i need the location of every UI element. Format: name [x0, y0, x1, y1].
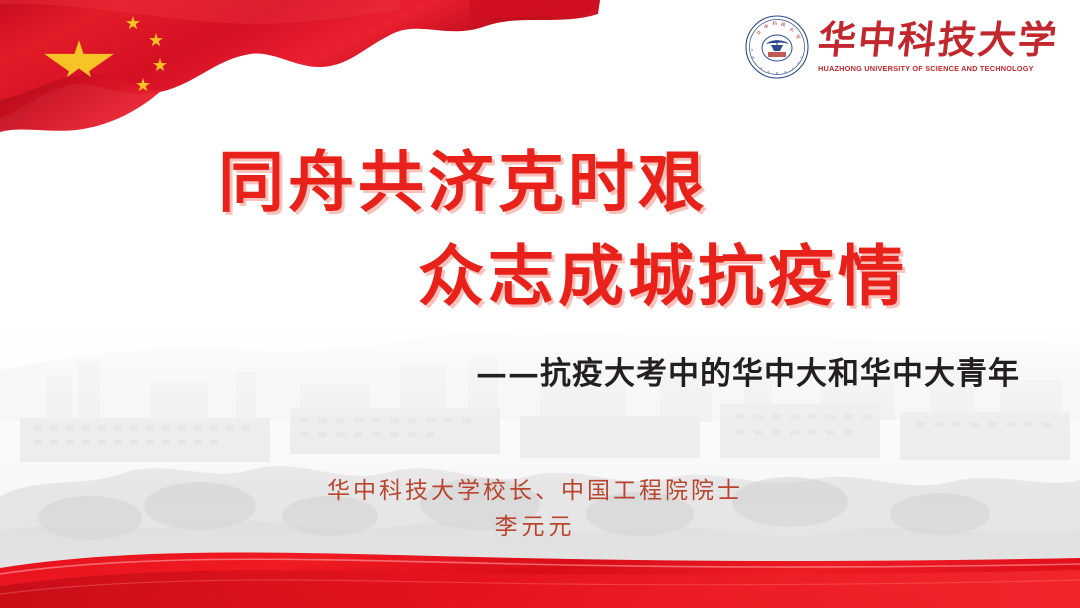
title-line-2: 众志成城抗疫情 [418, 244, 1080, 310]
presentation-slide: 华 中 科 技 大 学 U N I V E R S I T Y · [0, 0, 1080, 608]
svg-text:E: E [767, 70, 770, 74]
svg-text:科: 科 [772, 20, 778, 28]
svg-text:Y: Y [799, 56, 803, 60]
hust-seal-icon: 华 中 科 技 大 学 U N I V E R S I T Y · [744, 14, 810, 80]
svg-text:大: 大 [788, 25, 796, 33]
slide-title: 同舟共济克时艰 众志成城抗疫情 [0, 150, 1080, 310]
svg-text:S: S [784, 70, 787, 74]
svg-text:技: 技 [780, 21, 786, 29]
chinese-national-flag [0, 0, 600, 150]
university-logo: 华 中 科 技 大 学 U N I V E R S I T Y · [744, 14, 1058, 80]
svg-text:I: I [754, 62, 758, 65]
svg-text:N: N [751, 56, 756, 60]
svg-text:华: 华 [755, 28, 763, 37]
red-ribbon-decoration [0, 528, 1080, 608]
university-name-cn: 华中科技大学 [816, 22, 1060, 60]
presenter-role: 华中科技大学校长、中国工程院院士 [120, 474, 950, 509]
svg-text:·: · [800, 49, 804, 51]
svg-text:U: U [750, 48, 754, 51]
slide-subtitle: ——抗疫大考中的华中大和华中大青年 [0, 348, 1020, 393]
title-line-1: 同舟共济克时艰 [218, 150, 1080, 216]
university-name-en: HUAZHONG UNIVERSITY OF SCIENCE AND TECHN… [818, 65, 1034, 72]
svg-text:中: 中 [763, 22, 771, 31]
svg-text:V: V [760, 66, 764, 70]
